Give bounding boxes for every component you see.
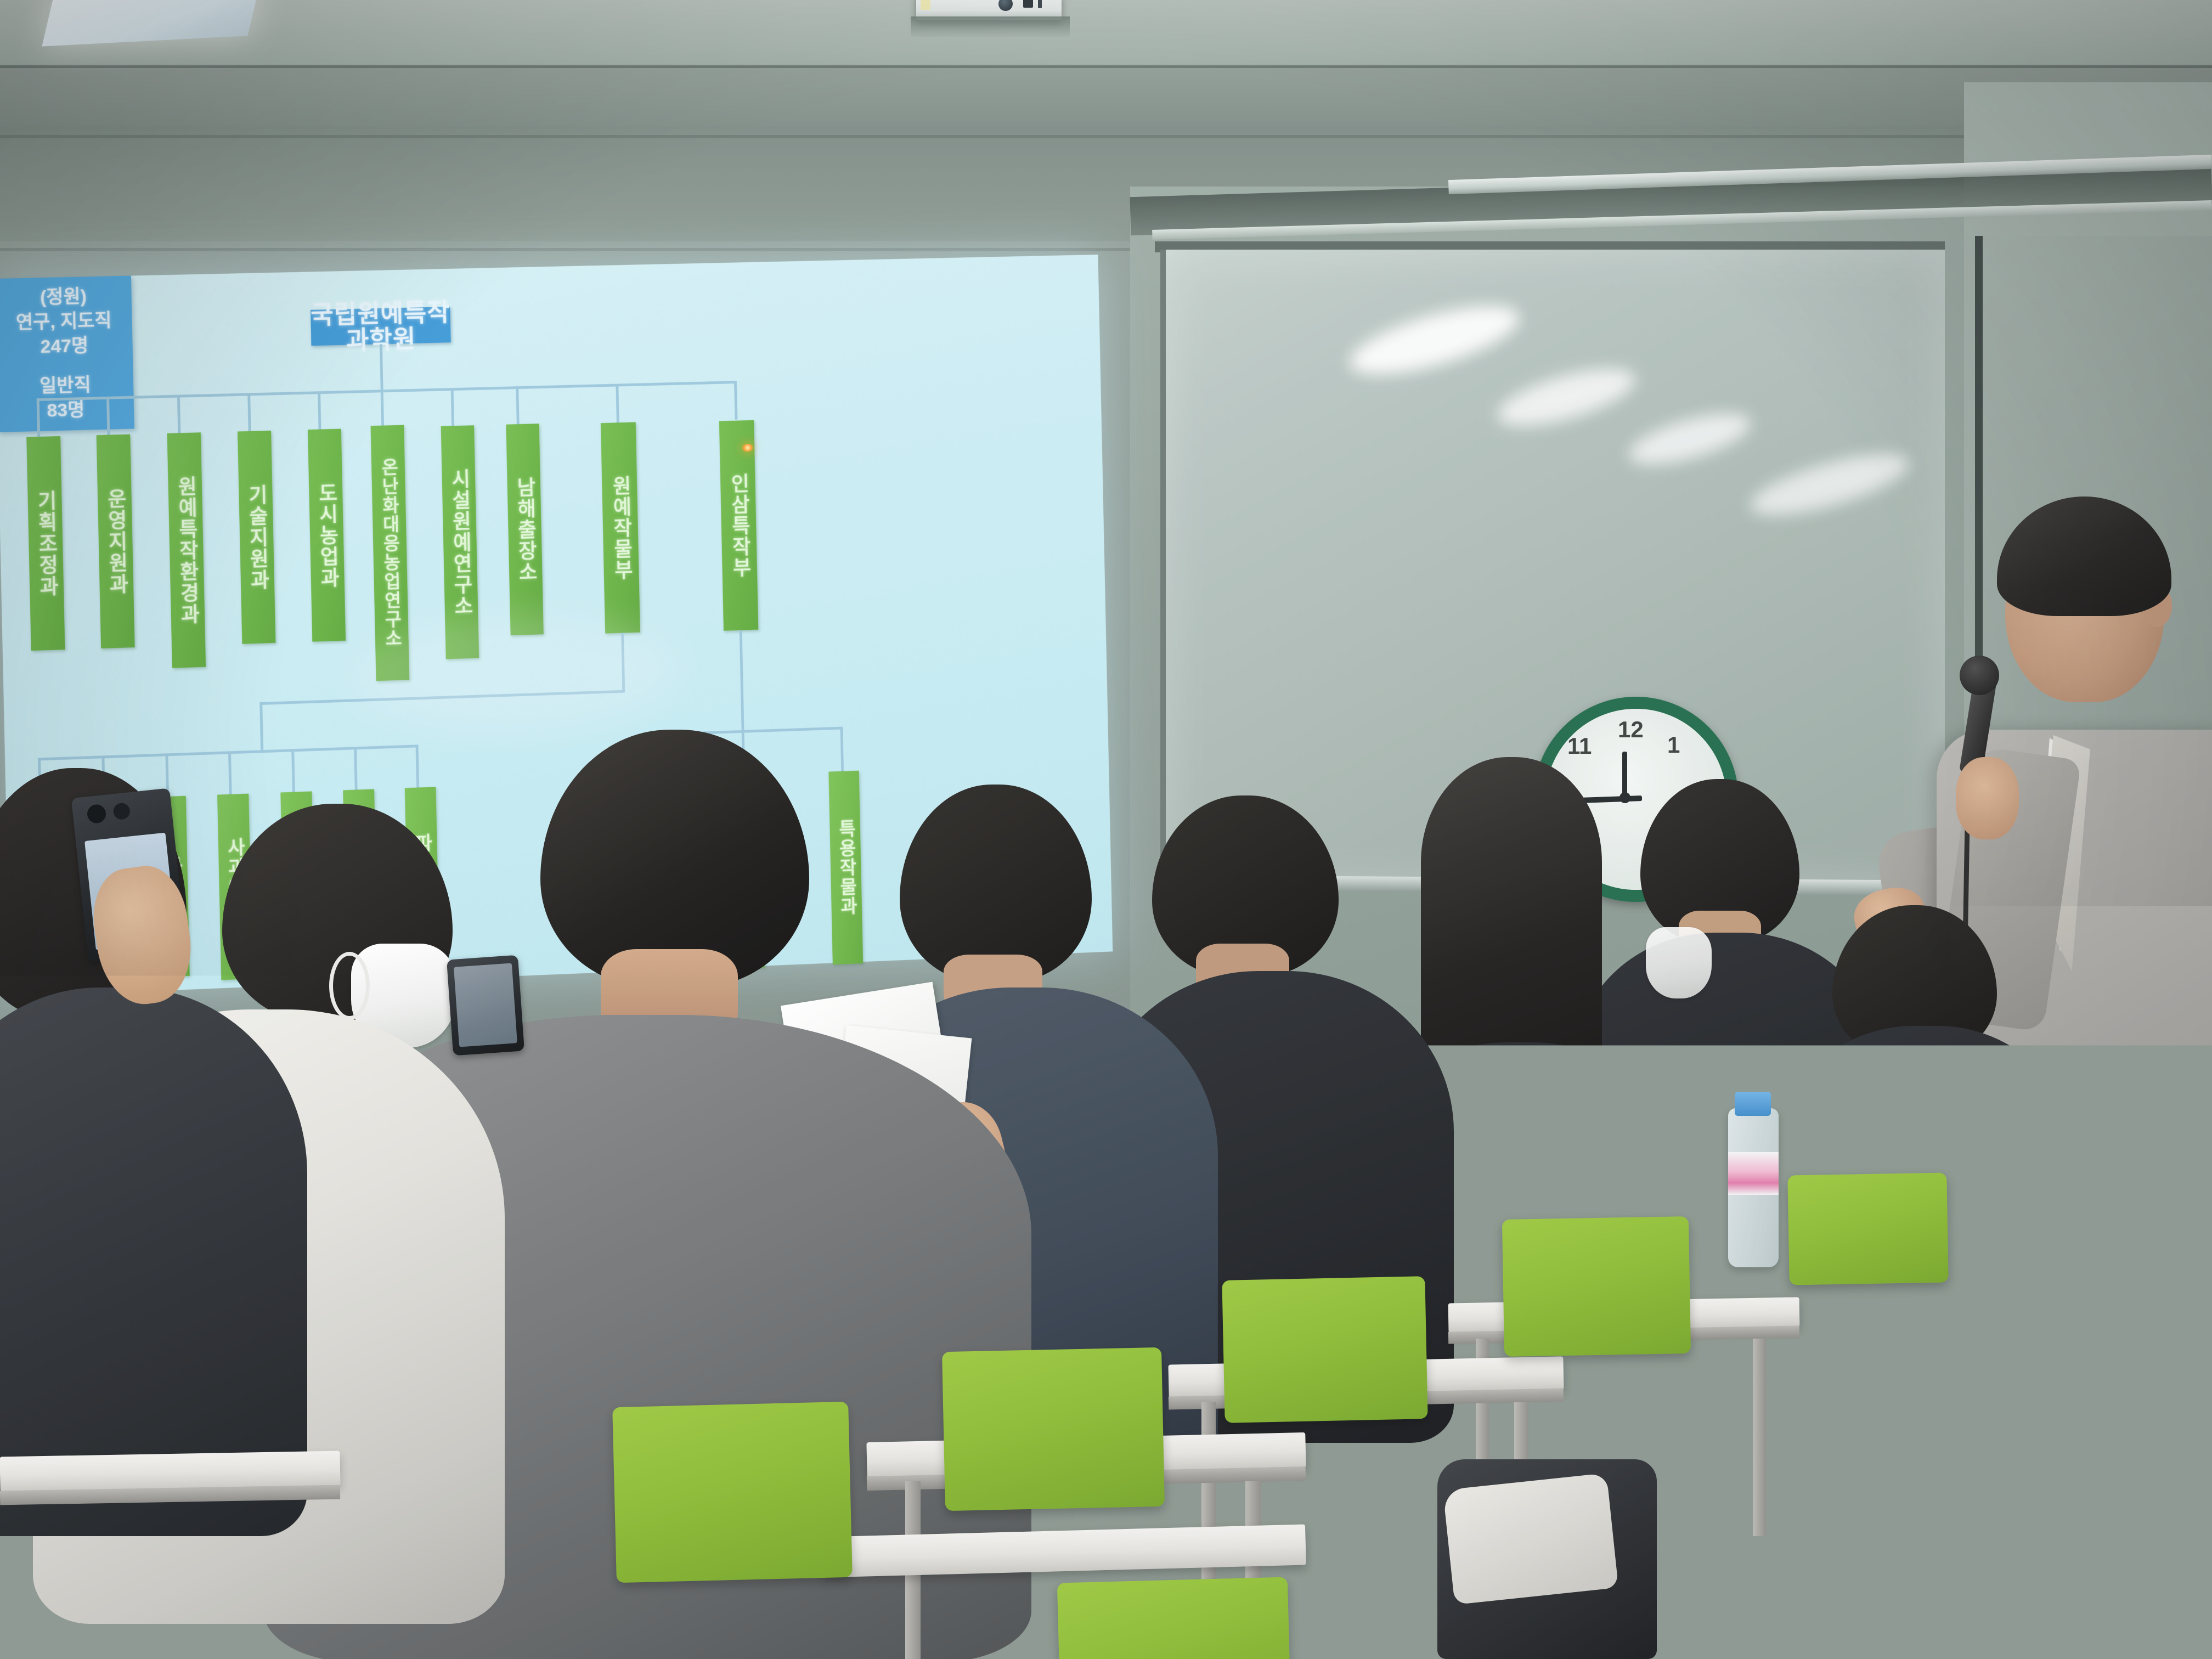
smartphone-second[interactable]	[447, 955, 524, 1056]
connector-drop-9	[616, 384, 619, 423]
headcount-line-1: (정원)	[40, 284, 87, 310]
connector-drop-6	[381, 390, 384, 428]
connector-drop-5	[318, 391, 321, 430]
org-dept-6-label: 온난화대응농업연구소	[379, 458, 401, 648]
org-dept-8-label: 남해출장소	[513, 476, 537, 582]
org-dept-2-label: 운영지원과	[104, 488, 127, 595]
white-cloth-item	[1443, 1473, 1618, 1605]
org-dept-5: 도시농업과	[308, 429, 346, 642]
org-dept-8: 남해출장소	[506, 424, 543, 635]
connector-sub-drop-6	[354, 747, 358, 791]
chair-asset-tag-logo-icon	[278, 1557, 285, 1564]
headcount-info-box: (정원) 연구, 지도직 247명 일반직 83명	[0, 276, 134, 432]
chair-foreground-right[interactable]	[1057, 1577, 1291, 1659]
chair-front-right[interactable]	[612, 1402, 853, 1583]
org-dept-4-label: 기술지원과	[245, 484, 268, 591]
whiteboard-glare-4	[1745, 442, 1914, 527]
water-bottle-label	[1728, 1152, 1779, 1195]
ceiling-band	[0, 0, 2212, 66]
clock-center-pin	[1620, 792, 1630, 803]
chair-back-right[interactable]	[1502, 1216, 1691, 1357]
face-mask-strap	[329, 952, 370, 1020]
whiteboard-glare-3	[1624, 403, 1756, 475]
chair-mid-right[interactable]	[1222, 1276, 1427, 1423]
water-bottle-cap[interactable]	[1735, 1092, 1771, 1116]
headcount-line-5: 83명	[47, 398, 85, 424]
projector-knob-2-icon	[1038, 0, 1042, 8]
org-root-node: 국립원예특작과학원	[311, 307, 451, 346]
backpack-on-floor[interactable]	[1772, 1415, 2079, 1659]
org-dept-5-label: 도시농업과	[315, 482, 338, 588]
chair-right-2[interactable]	[1787, 1172, 1948, 1285]
projector-side-tab	[921, 0, 930, 10]
connector-drop-7	[451, 388, 454, 427]
projector-lens-icon	[998, 0, 1013, 11]
headcount-line-2: 연구, 지도직	[16, 308, 112, 335]
connector-drop-4	[247, 393, 251, 432]
org-dept-3-label: 원예특작환경과	[174, 476, 199, 625]
ceiling-seam-2	[0, 135, 2212, 138]
org-dept-10-label: 인삼특작부	[727, 473, 750, 578]
org-dept-4: 기술지원과	[238, 431, 275, 644]
chair-far-right[interactable]	[1936, 1107, 2063, 1214]
smartphone-camera-icon	[86, 804, 106, 824]
connector-dept10-down	[740, 630, 744, 732]
face-mask-2	[1646, 927, 1712, 998]
connector-level2-left-bus	[38, 744, 417, 760]
clock-numeral-11: 11	[1567, 733, 1592, 759]
desk-leg-4	[1753, 1339, 1766, 1536]
headcount-line-4: 일반직	[39, 373, 91, 399]
chair-mid-center[interactable]	[942, 1347, 1165, 1511]
org-dept-7-label: 시설원예연구소	[448, 468, 472, 617]
org-dept-9-label: 원예작물부	[609, 475, 632, 581]
ceiling-seam	[0, 65, 2212, 68]
org-dept-10: 인삼특작부	[719, 420, 758, 631]
smartphone-camera-2-icon	[112, 802, 131, 820]
connector-drop-10	[734, 381, 737, 420]
connector-level2-left-riser	[259, 702, 263, 752]
org-sub-right-3: 특용작물과	[828, 771, 863, 965]
org-dept-1-label: 기획조정과	[34, 490, 58, 597]
org-dept-2: 운영지원과	[97, 435, 135, 648]
whiteboard-glare-2	[1492, 357, 1640, 438]
chair-foreground-left[interactable]	[0, 1583, 194, 1659]
projector-knob-icon	[1023, 0, 1033, 8]
org-dept-1: 기획조정과	[26, 436, 65, 651]
projector-mount-shadow	[911, 16, 1070, 37]
smartphone-second-screen[interactable]	[454, 963, 517, 1047]
org-dept-3: 원예특작환경과	[167, 432, 206, 668]
whiteboard-glare-1	[1344, 292, 1526, 388]
chair-asset-tag	[275, 1543, 364, 1582]
connector-sub-right-drop-3	[840, 727, 844, 773]
presenter-hand-holding-mic	[1956, 757, 2019, 839]
clock-numeral-1: 1	[1667, 732, 1680, 758]
connector-level1-bus	[37, 381, 735, 401]
laser-pointer-dot	[742, 444, 753, 452]
clock-numeral-12: 12	[1618, 716, 1644, 743]
connector-sub-drop-7	[416, 744, 420, 789]
lecture-hall-photo: 12 1 11 국립원예특작과학원	[0, 0, 2212, 1659]
connector-drop-3	[177, 395, 180, 435]
connector-sub-drop-4	[228, 751, 232, 796]
connector-drop-8	[516, 386, 519, 425]
microphone-head-icon	[1960, 656, 1999, 695]
connector-sub-drop-5	[291, 749, 295, 793]
org-sub-right-3-label: 특용작물과	[836, 819, 856, 916]
org-dept-9: 원예작물부	[601, 422, 640, 634]
headcount-line-3: 247명	[40, 334, 89, 359]
